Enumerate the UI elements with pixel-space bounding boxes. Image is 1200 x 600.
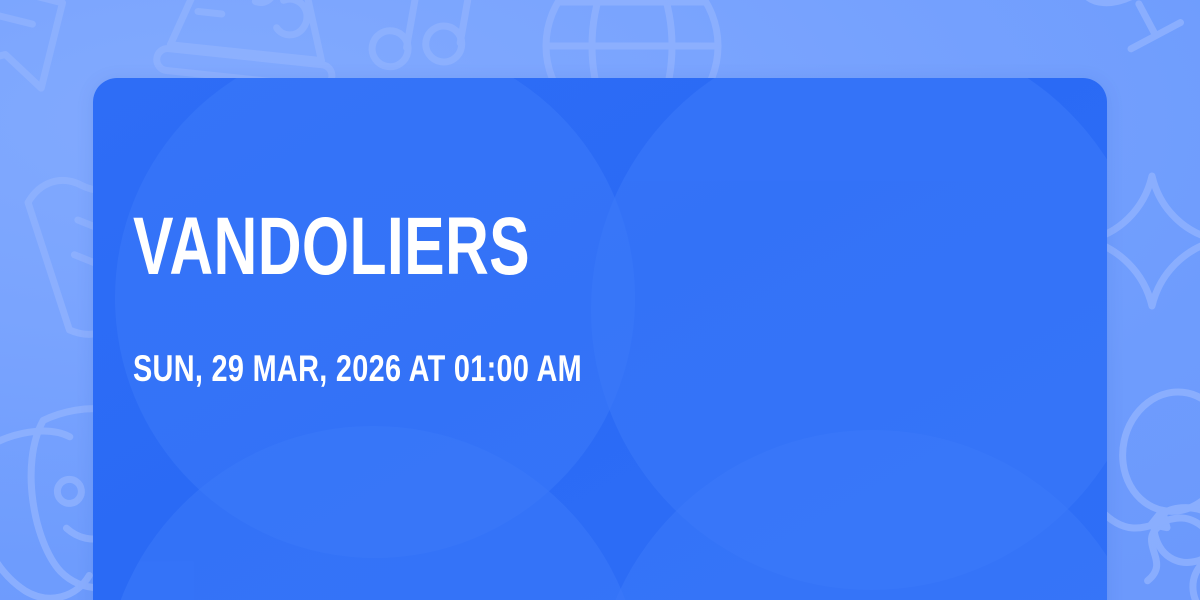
- laptop-icon: [156, 0, 343, 88]
- event-title: VANDOLIERS: [133, 206, 530, 288]
- event-card-page: VANDOLIERS SUN, 29 MAR, 2026 AT 01:00 AM: [0, 0, 1200, 600]
- music-note-icon: [369, 0, 475, 79]
- microphone-icon: [1054, 0, 1195, 56]
- card-content: VANDOLIERS SUN, 29 MAR, 2026 AT 01:00 AM: [133, 78, 1067, 600]
- event-date: SUN, 29 MAR, 2026 AT 01:00 AM: [133, 350, 582, 387]
- event-card[interactable]: VANDOLIERS SUN, 29 MAR, 2026 AT 01:00 AM: [93, 78, 1107, 600]
- star-badge-icon: [0, 0, 63, 88]
